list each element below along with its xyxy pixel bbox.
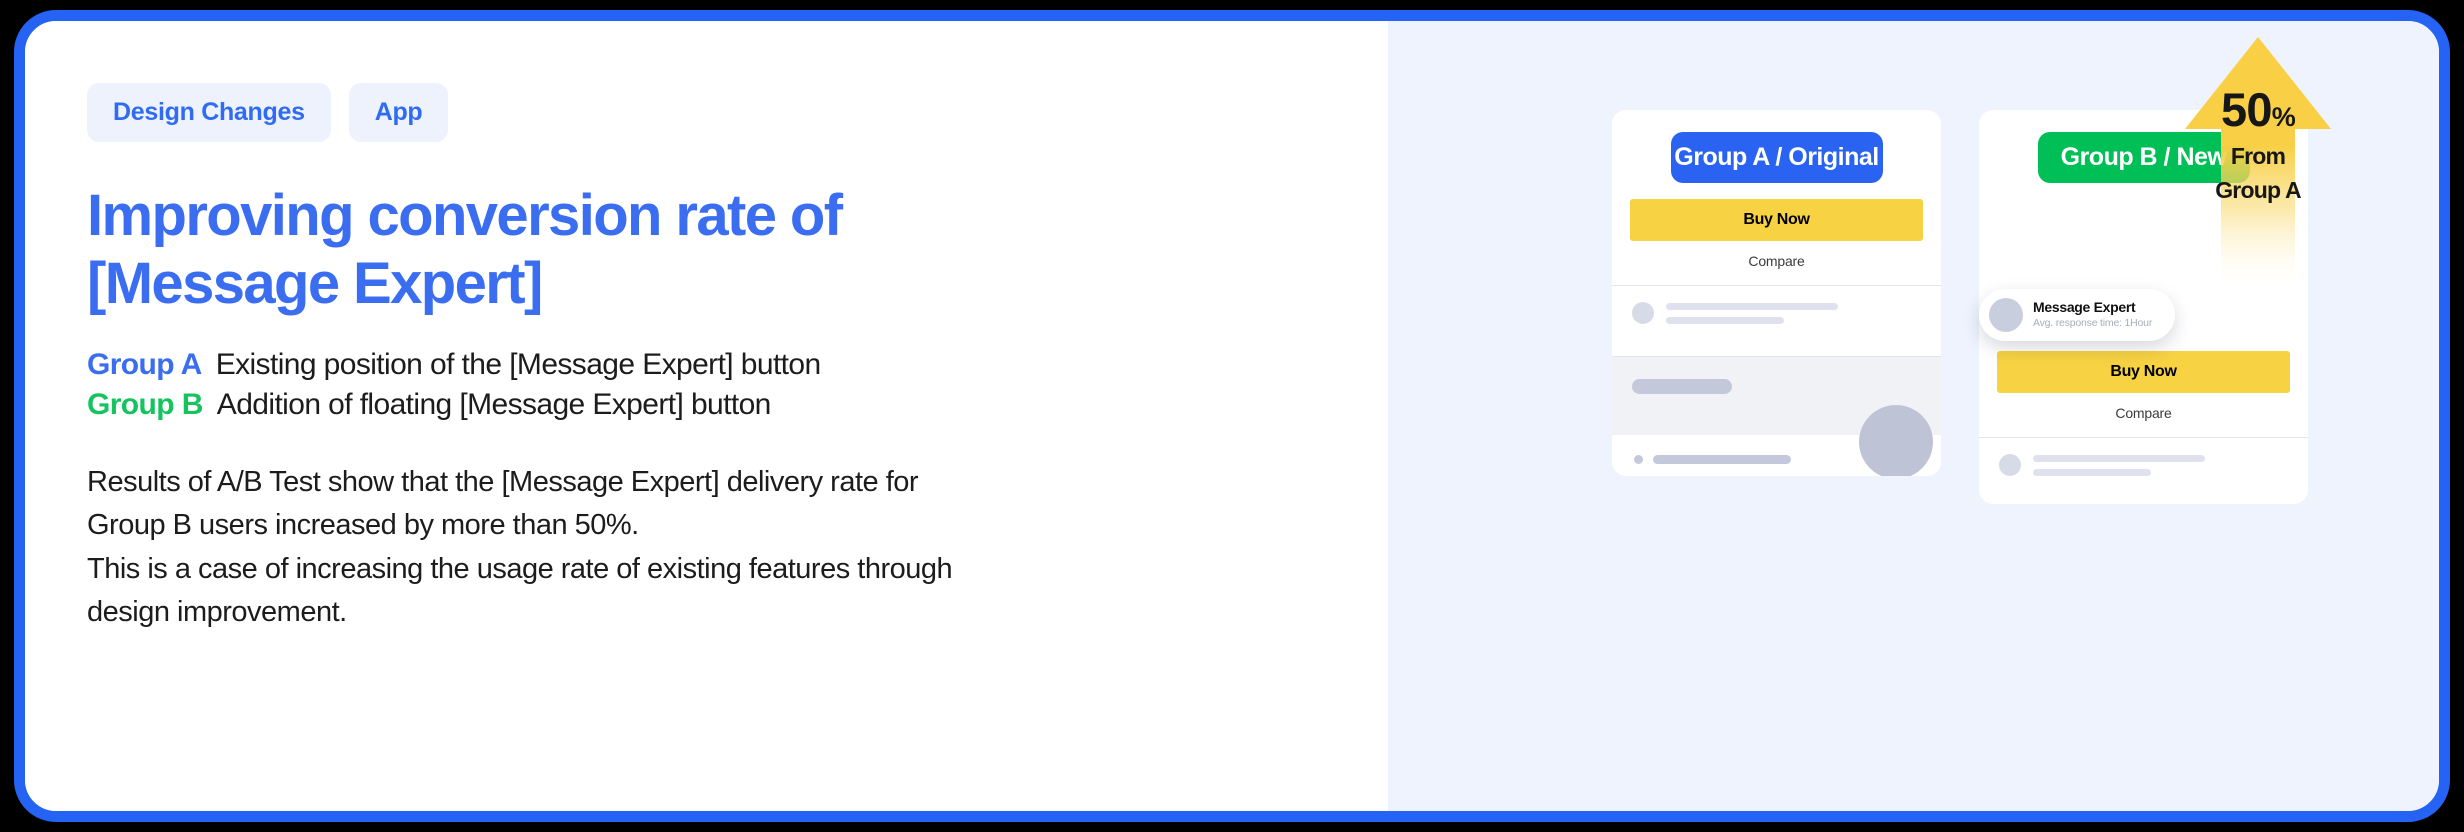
buy-now-button-a[interactable]: Buy Now <box>1630 199 1923 241</box>
group-a-line: Group A Existing position of the [Messag… <box>87 345 1388 385</box>
uplift-percent-symbol: % <box>2272 102 2295 132</box>
avatar <box>1989 298 2023 332</box>
compare-link-a[interactable]: Compare <box>1612 253 1941 269</box>
uplift-percent: 50% <box>2183 86 2333 133</box>
uplift-percent-value: 50 <box>2221 83 2272 136</box>
placeholder-user-row-a <box>1612 286 1941 340</box>
placeholder-lines <box>1666 303 1838 324</box>
placeholder-circle <box>1859 405 1933 476</box>
placeholder-band-a <box>1612 357 1941 435</box>
body-line-1: Results of A/B Test show that the [Messa… <box>87 461 1047 505</box>
uplift-baseline-label: Group A <box>2183 179 2333 202</box>
chip-app[interactable]: App <box>349 83 449 142</box>
phone-mockup-group-a: Group A / Original Buy Now Compare <box>1612 110 1941 476</box>
page-title: Improving conversion rate of [Message Ex… <box>87 182 1007 319</box>
buy-now-button-b[interactable]: Buy Now <box>1997 351 2290 393</box>
body-line-3: This is a case of increasing the usage r… <box>87 548 1047 592</box>
uplift-from-label: From <box>2183 145 2333 168</box>
group-a-badge: Group A / Original <box>1671 132 1883 183</box>
tag-chip-group: Design Changes App <box>87 83 1388 142</box>
skeleton-block <box>1632 379 1732 394</box>
group-b-line: Group B Addition of floating [Message Ex… <box>87 385 1388 425</box>
uplift-label-group: 50% From Group A <box>2183 33 2333 293</box>
group-b-description: Addition of floating [Message Expert] bu… <box>217 385 771 425</box>
floating-message-expert-card[interactable]: Message Expert Avg. response time: 1Hour <box>1979 289 2175 341</box>
skeleton-line <box>1666 303 1838 310</box>
chip-design-changes[interactable]: Design Changes <box>87 83 331 142</box>
group-a-label: Group A <box>87 345 202 385</box>
float-card-text: Message Expert Avg. response time: 1Hour <box>2033 299 2152 331</box>
presentation-card: Design Changes App Improving conversion … <box>14 10 2450 822</box>
uplift-arrow-badge: 50% From Group A <box>2183 33 2333 293</box>
body-line-2: Group B users increased by more than 50%… <box>87 504 1047 548</box>
body-line-4: design improvement. <box>87 591 1047 635</box>
group-b-label: Group B <box>87 385 203 425</box>
placeholder-lines <box>2033 455 2205 476</box>
group-a-description: Existing position of the [Message Expert… <box>216 345 821 385</box>
skeleton-line <box>1653 455 1791 464</box>
bullet-dot-icon <box>1634 455 1643 464</box>
message-expert-subtitle: Avg. response time: 1Hour <box>2033 317 2152 331</box>
message-expert-title: Message Expert <box>2033 299 2152 317</box>
skeleton-line <box>1666 317 1784 324</box>
avatar <box>1632 302 1654 324</box>
compare-link-b[interactable]: Compare <box>1979 405 2308 421</box>
group-legend: Group A Existing position of the [Messag… <box>87 345 1388 425</box>
skeleton-line <box>2033 469 2151 476</box>
skeleton-line <box>2033 455 2205 462</box>
placeholder-user-row-b <box>1979 438 2308 492</box>
avatar <box>1999 454 2021 476</box>
right-mockup-panel: Group A / Original Buy Now Compare <box>1388 21 2439 811</box>
left-content-panel: Design Changes App Improving conversion … <box>25 21 1388 811</box>
body-paragraph: Results of A/B Test show that the [Messa… <box>87 461 1047 635</box>
